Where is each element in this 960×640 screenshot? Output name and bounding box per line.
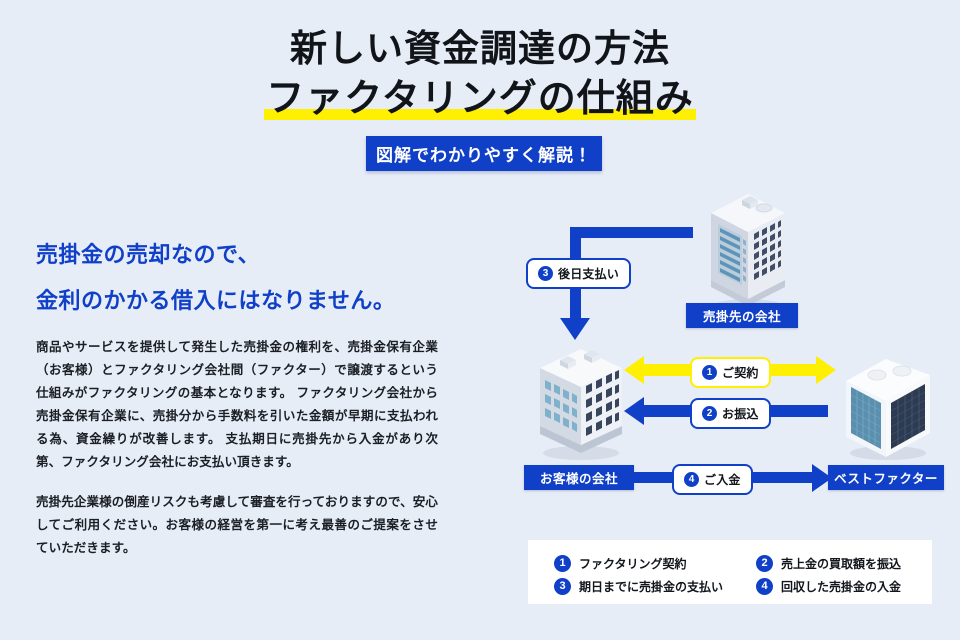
- legend-text-4: 回収した売掛金の入金: [781, 578, 901, 595]
- cta-banner[interactable]: 図解でわかりやすく解説！: [366, 136, 602, 171]
- step-label-3: 後日支払い: [558, 265, 619, 282]
- step2-arrowhead: [624, 397, 644, 425]
- title-line-1: 新しい資金調達の方法: [0, 26, 960, 72]
- step-chip-4: 4 ご入金: [672, 464, 753, 495]
- step-number-2: 2: [702, 406, 717, 421]
- legend-text-3: 期日までに売掛金の支払い: [579, 578, 723, 595]
- infographic-canvas: 新しい資金調達の方法 ファクタリングの仕組み 図解でわかりやすく解説！ 売掛金の…: [0, 0, 960, 640]
- node-label-debtor: 売掛先の会社: [686, 303, 798, 328]
- step3-arrow-horizontal: [570, 227, 693, 238]
- body-copy: 商品やサービスを提供して発生した売掛金の権利を、売掛金保有企業（お客様）とファク…: [36, 336, 438, 577]
- step1-arrowhead-left: [624, 356, 644, 384]
- step-chip-2: 2 お振込: [690, 398, 771, 429]
- legend-item: 3 期日までに売掛金の支払い: [528, 578, 730, 595]
- building-debtor: [698, 184, 798, 316]
- lead-heading: 売掛金の売却なので、 金利のかかる借入にはなりません。: [36, 232, 456, 324]
- building-customer: [526, 338, 636, 463]
- step-number-1: 1: [702, 365, 717, 380]
- body-paragraph-2: 売掛先企業様の倒産リスクも考慮して審査を行っておりますので、安心してご利用くださ…: [36, 491, 438, 560]
- step1-arrowhead-right: [816, 356, 836, 384]
- building-debtor-icon: [698, 184, 798, 316]
- legend-number-3: 3: [554, 578, 571, 595]
- step-chip-3: 3 後日支払い: [526, 258, 631, 289]
- legend-number-1: 1: [554, 555, 571, 572]
- legend-text-1: ファクタリング契約: [579, 555, 687, 572]
- step-number-4: 4: [684, 472, 699, 487]
- legend-item: 2 売上金の買取額を振込: [730, 555, 932, 572]
- legend-number-2: 2: [756, 555, 773, 572]
- lead-heading-line-2: 金利のかかる借入にはなりません。: [36, 278, 456, 324]
- legend-text-2: 売上金の買取額を振込: [781, 555, 901, 572]
- step-label-1: ご契約: [722, 364, 759, 381]
- lead-heading-line-1: 売掛金の売却なので、: [36, 232, 456, 278]
- step-number-3: 3: [538, 266, 553, 281]
- title-line-2-wrapper: ファクタリングの仕組み: [0, 74, 960, 132]
- legend-panel: 1 ファクタリング契約 2 売上金の買取額を振込 3 期日までに売掛金の支払い …: [528, 540, 932, 604]
- node-label-customer: お客様の会社: [524, 465, 634, 490]
- building-factor-icon: [830, 345, 942, 463]
- body-paragraph-1: 商品やサービスを提供して発生した売掛金の権利を、売掛金保有企業（お客様）とファク…: [36, 336, 438, 474]
- node-label-factor: ベストファクター: [828, 465, 944, 490]
- factoring-flow-diagram: 3 後日支払い: [500, 180, 960, 510]
- step-chip-1: 1 ご契約: [690, 357, 771, 388]
- step-label-4: ご入金: [704, 471, 741, 488]
- legend-item: 1 ファクタリング契約: [528, 555, 730, 572]
- step3-arrowhead: [560, 318, 590, 340]
- building-factor: [830, 345, 942, 463]
- step-label-2: お振込: [722, 405, 759, 422]
- page-title: 新しい資金調達の方法 ファクタリングの仕組み: [0, 26, 960, 132]
- title-line-2-highlighted: ファクタリングの仕組み: [264, 78, 695, 120]
- legend-item: 4 回収した売掛金の入金: [730, 578, 932, 595]
- building-customer-icon: [526, 338, 636, 463]
- step4-arrowhead: [812, 464, 832, 492]
- legend-number-4: 4: [756, 578, 773, 595]
